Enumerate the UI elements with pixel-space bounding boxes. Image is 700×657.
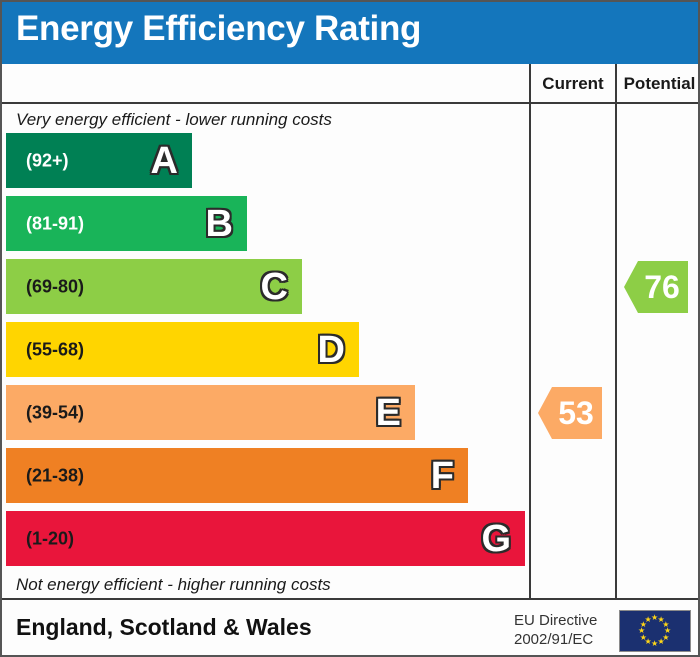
column-divider-current <box>529 64 531 600</box>
column-divider-potential <box>615 64 617 600</box>
chart-body: Current Potential Very energy efficient … <box>2 64 700 600</box>
footer-directive: EU Directive 2002/91/EC <box>514 611 597 649</box>
chart-footer: England, Scotland & Wales EU Directive 2… <box>2 600 700 657</box>
footer-region-label: England, Scotland & Wales <box>16 614 312 641</box>
rating-band-f: (21-38)F <box>6 448 468 503</box>
band-range-d: (55-68) <box>26 339 84 360</box>
band-letter-f: F <box>431 457 454 495</box>
energy-efficiency-rating-chart: Energy Efficiency Rating Current Potenti… <box>0 0 700 657</box>
chart-header: Energy Efficiency Rating <box>2 2 700 64</box>
band-range-a: (92+) <box>26 150 69 171</box>
header-divider <box>2 102 700 104</box>
score-marker-current: 53 <box>538 387 602 439</box>
rating-band-b: (81-91)B <box>6 196 247 251</box>
band-range-b: (81-91) <box>26 213 84 234</box>
score-marker-potential: 76 <box>624 261 688 313</box>
band-letter-b: B <box>206 205 233 243</box>
rating-band-d: (55-68)D <box>6 322 359 377</box>
rating-band-e: (39-54)E <box>6 385 415 440</box>
rating-band-c: (69-80)C <box>6 259 302 314</box>
band-letter-g: G <box>481 520 511 558</box>
band-range-e: (39-54) <box>26 402 84 423</box>
caption-inefficient: Not energy efficient - higher running co… <box>16 575 331 595</box>
column-header-potential: Potential <box>617 72 700 96</box>
rating-band-g: (1-20)G <box>6 511 525 566</box>
footer-directive-line1: EU Directive <box>514 611 597 630</box>
band-range-g: (1-20) <box>26 528 74 549</box>
band-letter-c: C <box>261 268 288 306</box>
score-value-current: 53 <box>558 397 594 429</box>
eu-flag-icon <box>619 610 691 652</box>
caption-efficient: Very energy efficient - lower running co… <box>16 110 332 130</box>
rating-band-a: (92+)A <box>6 133 192 188</box>
band-range-c: (69-80) <box>26 276 84 297</box>
band-range-f: (21-38) <box>26 465 84 486</box>
footer-directive-line2: 2002/91/EC <box>514 630 597 649</box>
band-letter-d: D <box>318 331 345 369</box>
page-title: Energy Efficiency Rating <box>16 9 421 49</box>
band-letter-e: E <box>376 394 401 432</box>
score-value-potential: 76 <box>644 271 680 303</box>
band-letter-a: A <box>151 142 178 180</box>
column-header-current: Current <box>531 72 615 96</box>
